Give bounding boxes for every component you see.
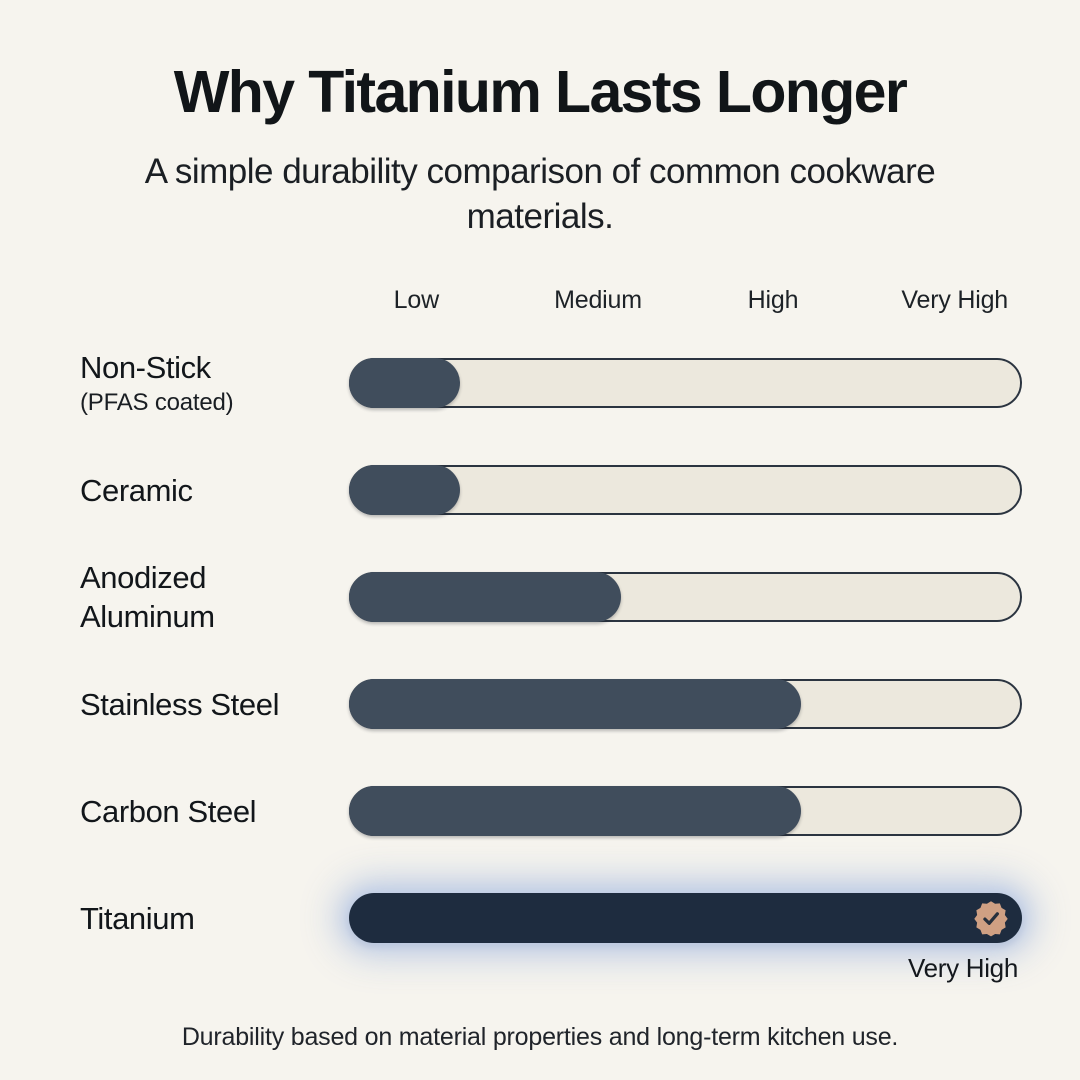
chart-row: AnodizedAluminum <box>80 544 1022 651</box>
durability-track[interactable] <box>349 465 1022 515</box>
row-label-cell: Stainless Steel <box>80 685 349 724</box>
durability-fill <box>349 358 460 408</box>
durability-fill <box>349 679 801 729</box>
durability-track[interactable] <box>349 893 1022 943</box>
scale-header-row: LowMediumHighVery High <box>80 286 1022 330</box>
scale-tick-very-high: Very High <box>901 286 1008 315</box>
row-label-main: Carbon Steel <box>80 794 256 829</box>
chart-row: TitaniumVery High <box>80 865 1022 972</box>
row-label: AnodizedAluminum <box>80 558 331 636</box>
row-label: Ceramic <box>80 471 331 510</box>
row-label-main: Non-Stick <box>80 350 211 385</box>
durability-track[interactable] <box>349 358 1022 408</box>
row-end-rating-label: Very High <box>908 953 1018 984</box>
row-label: Titanium <box>80 899 331 938</box>
row-sublabel: Aluminum <box>80 597 331 636</box>
page-title: Why Titanium Lasts Longer <box>0 62 1080 124</box>
chart-row: Non-Stick(PFAS coated) <box>80 330 1022 437</box>
row-sublabel: (PFAS coated) <box>80 388 331 417</box>
row-label-cell: Titanium <box>80 899 349 938</box>
chart-rows: Non-Stick(PFAS coated)CeramicAnodizedAlu… <box>80 330 1022 972</box>
row-bar-cell <box>349 465 1022 515</box>
durability-fill <box>349 465 460 515</box>
row-label-main: Stainless Steel <box>80 687 279 722</box>
durability-track[interactable] <box>349 679 1022 729</box>
row-bar-cell <box>349 358 1022 408</box>
durability-track[interactable] <box>349 786 1022 836</box>
scale-tick-low: Low <box>394 286 439 315</box>
poster-header: Why Titanium Lasts Longer A simple durab… <box>0 0 1080 240</box>
row-bar-cell <box>349 679 1022 729</box>
row-label-cell: Carbon Steel <box>80 792 349 831</box>
row-bar-cell <box>349 786 1022 836</box>
chart-row: Carbon Steel <box>80 758 1022 865</box>
scale-axis: LowMediumHighVery High <box>349 286 1022 318</box>
durability-chart: LowMediumHighVery High Non-Stick(PFAS co… <box>0 286 1080 972</box>
row-label-main: Titanium <box>80 901 195 936</box>
row-label-cell: AnodizedAluminum <box>80 558 349 636</box>
page-subtitle: A simple durability comparison of common… <box>130 150 950 240</box>
chart-row: Ceramic <box>80 437 1022 544</box>
infographic-poster: Why Titanium Lasts Longer A simple durab… <box>0 0 1080 1080</box>
row-bar-cell <box>349 572 1022 622</box>
scale-tick-medium: Medium <box>554 286 642 315</box>
row-bar-cell: Very High <box>349 893 1022 943</box>
row-label-cell: Ceramic <box>80 471 349 510</box>
scale-tick-high: High <box>748 286 799 315</box>
durability-fill <box>349 786 801 836</box>
row-label-cell: Non-Stick(PFAS coated) <box>80 348 349 417</box>
durability-fill <box>349 893 1022 943</box>
verified-check-badge-icon <box>972 899 1010 937</box>
durability-track[interactable] <box>349 572 1022 622</box>
row-label: Non-Stick(PFAS coated) <box>80 348 331 417</box>
row-label-main: Anodized <box>80 560 206 595</box>
footer-note: Durability based on material properties … <box>0 1023 1080 1052</box>
chart-row: Stainless Steel <box>80 651 1022 758</box>
row-label: Stainless Steel <box>80 685 331 724</box>
durability-fill <box>349 572 621 622</box>
row-label: Carbon Steel <box>80 792 331 831</box>
row-label-main: Ceramic <box>80 473 193 508</box>
